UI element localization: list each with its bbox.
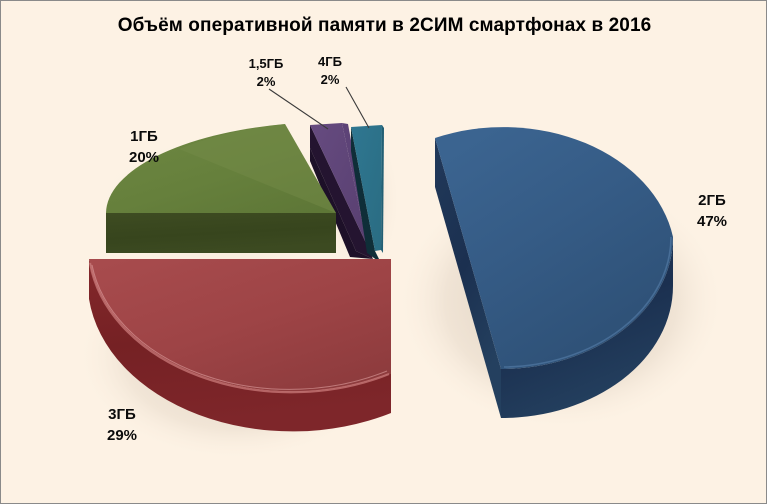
pie-label-1gb-name: 1ГБ: [109, 127, 179, 148]
pie-label-3gb-value: 29%: [87, 426, 157, 447]
leader-line-1-5gb: [269, 89, 328, 129]
pie-label-2gb-value: 47%: [677, 212, 747, 233]
pie-label-1-5gb: 1,5ГБ 2%: [236, 55, 296, 91]
pie-slice-1gb-side: [106, 213, 336, 253]
pie-label-1gb-value: 20%: [109, 148, 179, 169]
pie-chart-figure: Объём оперативной памяти в 2СИМ смартфон…: [0, 0, 767, 504]
pie-label-1gb: 1ГБ 20%: [109, 127, 179, 168]
pie-label-4gb: 4ГБ 2%: [304, 53, 356, 89]
pie-label-2gb: 2ГБ 47%: [677, 191, 747, 232]
pie-label-1-5gb-value: 2%: [236, 73, 296, 91]
pie-label-1-5gb-name: 1,5ГБ: [236, 55, 296, 73]
pie-label-4gb-name: 4ГБ: [304, 53, 356, 71]
pie-label-3gb-name: 3ГБ: [87, 405, 157, 426]
pie-label-4gb-value: 2%: [304, 71, 356, 89]
pie-label-2gb-name: 2ГБ: [677, 191, 747, 212]
pie-label-3gb: 3ГБ 29%: [87, 405, 157, 446]
